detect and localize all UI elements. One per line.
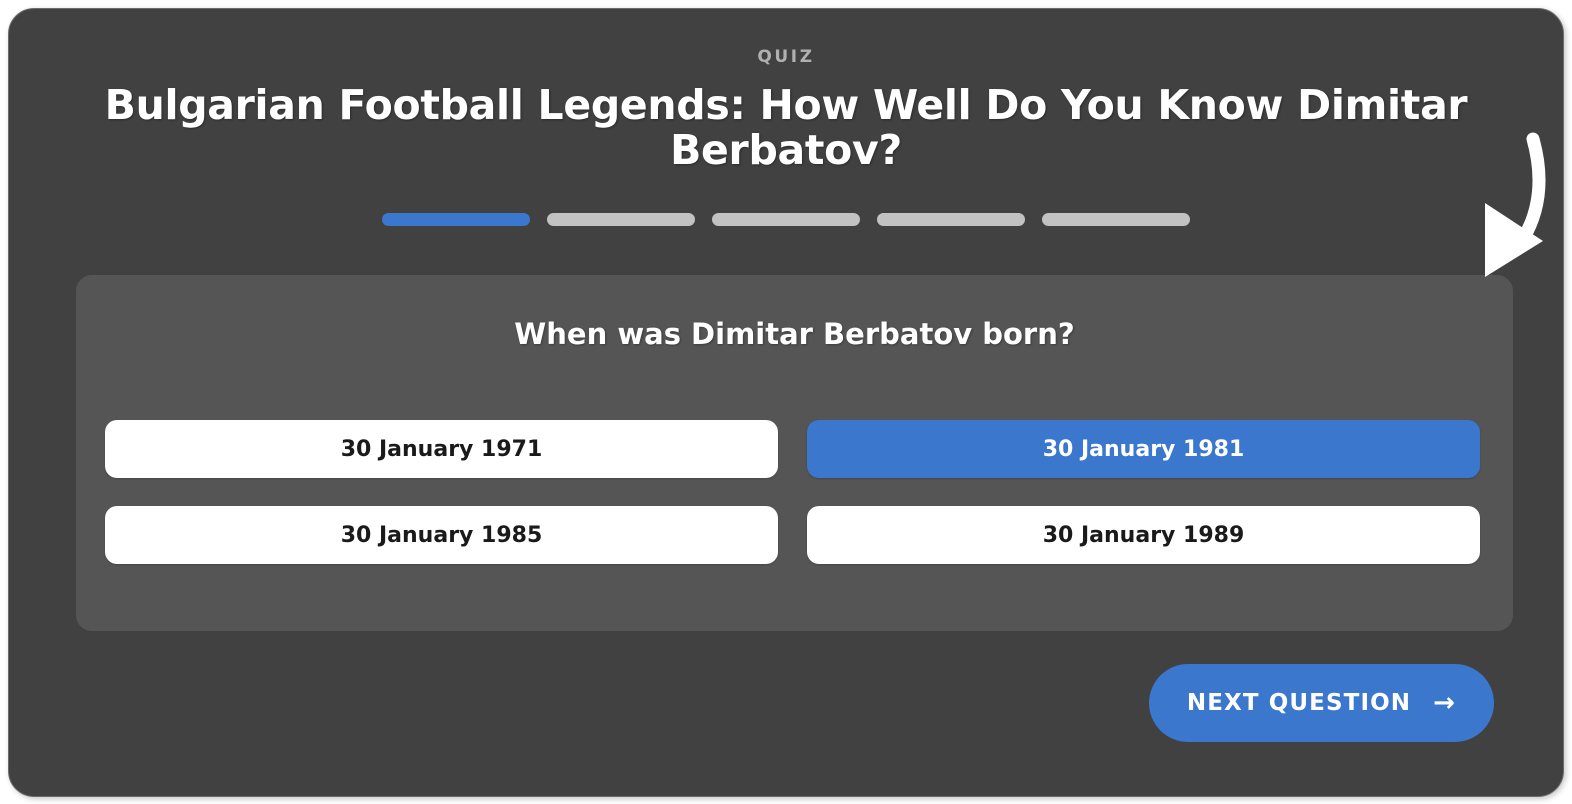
answer-options-grid: 30 January 1971 30 January 1981 30 Janua… [105,420,1480,564]
quiz-kicker-label: QUIZ [9,47,1563,67]
page-title: Bulgarian Football Legends: How Well Do … [9,83,1563,173]
next-question-button[interactable]: NEXT QUESTION → [1149,664,1494,742]
quiz-panel: QUIZ Bulgarian Football Legends: How Wel… [8,8,1564,797]
progress-bar [9,213,1563,226]
quiz-header: QUIZ Bulgarian Football Legends: How Wel… [9,9,1563,173]
arrow-right-icon: → [1433,690,1456,716]
question-text: When was Dimitar Berbatov born? [76,275,1513,351]
answer-option-2[interactable]: 30 January 1981 [807,420,1480,478]
next-question-label: NEXT QUESTION [1187,690,1411,716]
progress-segment-2[interactable] [547,213,695,226]
progress-segment-1[interactable] [382,213,530,226]
progress-segment-3[interactable] [712,213,860,226]
answer-option-4[interactable]: 30 January 1989 [807,506,1480,564]
answer-option-3[interactable]: 30 January 1985 [105,506,778,564]
question-card: When was Dimitar Berbatov born? 30 Janua… [76,275,1513,631]
answer-option-1[interactable]: 30 January 1971 [105,420,778,478]
progress-segment-5[interactable] [1042,213,1190,226]
progress-segment-4[interactable] [877,213,1025,226]
